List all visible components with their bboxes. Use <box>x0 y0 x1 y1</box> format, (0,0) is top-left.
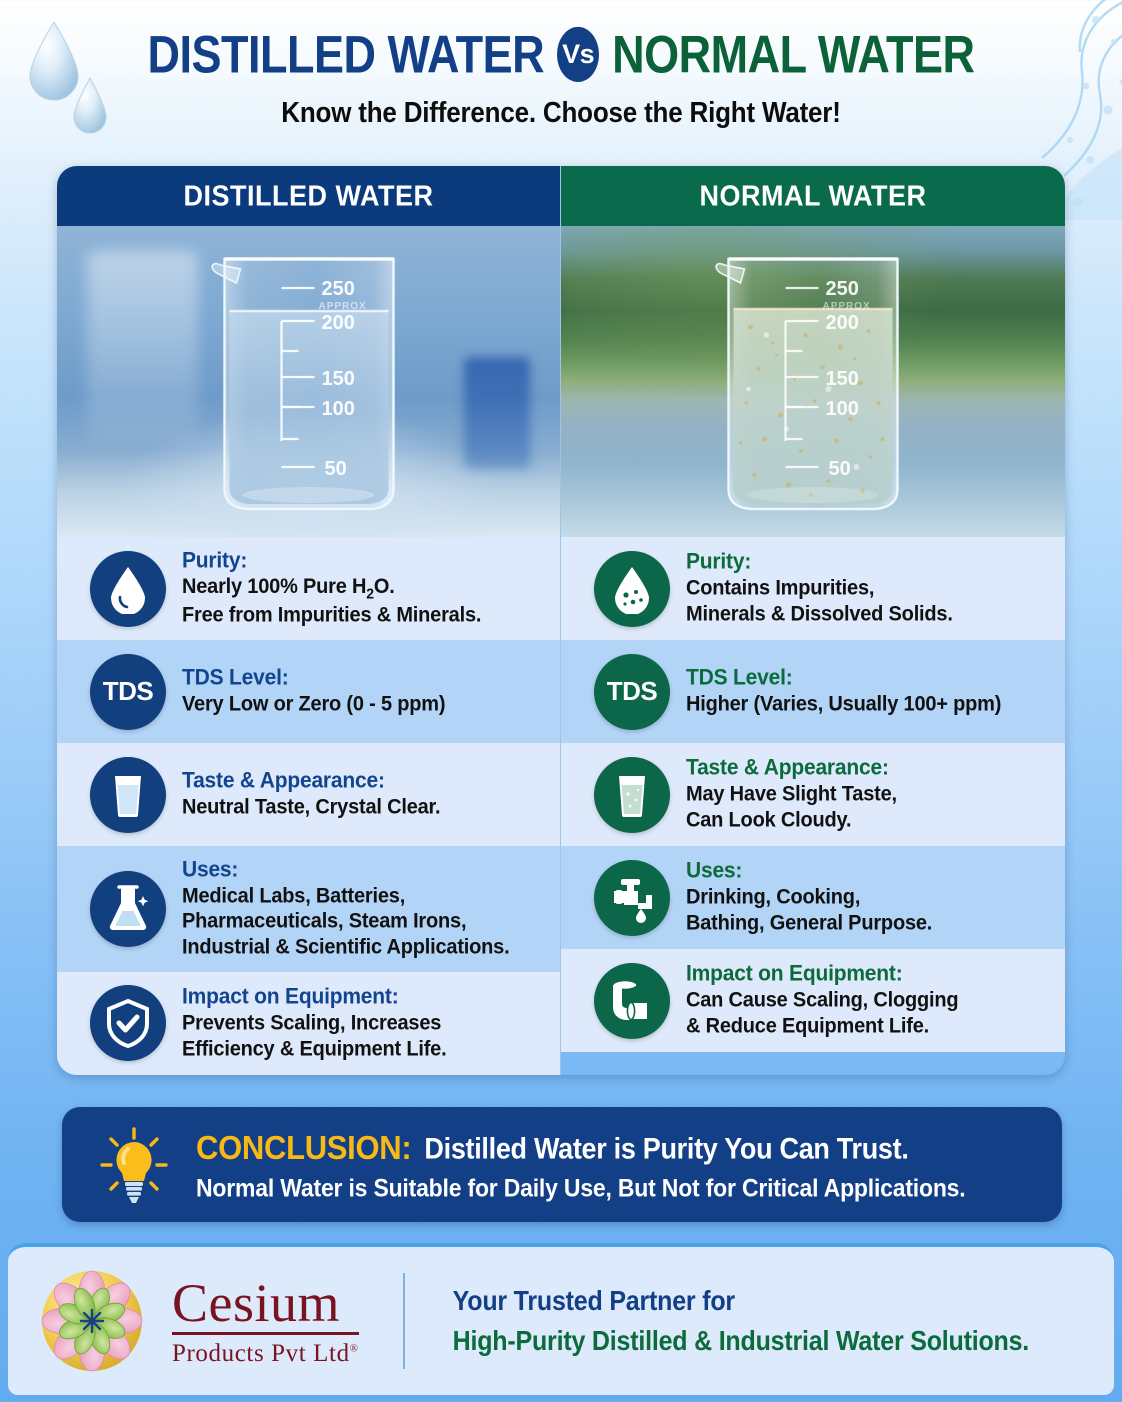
beaker-photo-normal: 250 200 150 100 50 APPROX <box>561 226 1065 537</box>
tagline-line-1: Your Trusted Partner for <box>453 1285 1029 1317</box>
row-desc: Industrial & Scientific Applications. <box>182 934 509 961</box>
row-desc: Bathing, General Purpose. <box>686 910 932 937</box>
row-uses-normal: Uses: Drinking, Cooking, Bathing, Genera… <box>561 846 1065 949</box>
row-tds-distilled: TDS TDS Level: Very Low or Zero (0 - 5 p… <box>57 640 560 743</box>
row-label: Taste & Appearance: <box>686 755 897 783</box>
dirty-water-drop-icon <box>594 551 670 627</box>
row-taste-normal: Taste & Appearance: May Have Slight Tast… <box>561 743 1065 846</box>
svg-text:200: 200 <box>321 312 354 334</box>
svg-text:50: 50 <box>324 458 346 480</box>
svg-text:200: 200 <box>826 312 859 334</box>
row-purity-normal: Purity: Contains Impurities, Minerals & … <box>561 537 1065 640</box>
svg-text:50: 50 <box>829 458 851 480</box>
faucet-icon <box>594 860 670 936</box>
column-header-normal: NORMAL WATER <box>561 166 1065 228</box>
clogged-pipe-icon <box>594 963 670 1039</box>
row-desc: May Have Slight Taste, <box>686 782 897 809</box>
row-label: TDS Level: <box>686 664 1001 692</box>
tds-icon-label: TDS <box>607 676 658 707</box>
row-label: Impact on Equipment: <box>182 983 446 1011</box>
beaker-clear-icon: 250 200 150 100 50 APPROX <box>206 243 411 515</box>
row-label: Uses: <box>182 856 509 884</box>
feature-rows-normal: Purity: Contains Impurities, Minerals & … <box>561 537 1065 1052</box>
conclusion-keyword: CONCLUSION: <box>196 1128 411 1167</box>
row-desc: Medical Labs, Batteries, <box>182 883 509 910</box>
page-title: DISTILLED WATER Vs NORMAL WATER <box>0 22 1122 87</box>
row-desc: Efficiency & Equipment Life. <box>182 1036 446 1063</box>
cloudy-glass-icon <box>594 757 670 833</box>
title-left: DISTILLED WATER <box>148 27 545 83</box>
footer-divider <box>403 1273 405 1369</box>
page-subtitle: Know the Difference. Choose the Right Wa… <box>0 95 1122 130</box>
svg-text:100: 100 <box>826 398 859 420</box>
svg-text:APPROX: APPROX <box>318 301 366 312</box>
column-normal-water: NORMAL WATER <box>561 166 1065 1075</box>
row-tds-normal: TDS TDS Level: Higher (Varies, Usually 1… <box>561 640 1065 743</box>
water-drop-icon <box>90 551 166 627</box>
beaker-photo-distilled: 250 200 150 100 50 APPROX <box>57 226 560 537</box>
row-impact-normal: Impact on Equipment: Can Cause Scaling, … <box>561 949 1065 1052</box>
svg-text:150: 150 <box>826 368 859 390</box>
row-desc: Contains Impurities, <box>686 576 953 603</box>
row-label: TDS Level: <box>182 664 445 692</box>
logo-wordmark: Cesium Products Pvt Ltd® <box>172 1276 359 1366</box>
company-subtitle: Products Pvt Ltd® <box>172 1341 359 1366</box>
comparison-card: DISTILLED WATER <box>57 166 1065 1075</box>
tds-icon: TDS <box>594 654 670 730</box>
lightbulb-icon <box>98 1125 170 1205</box>
footer-bar: Cesium Products Pvt Ltd® Your Trusted Pa… <box>8 1243 1114 1395</box>
row-desc: Neutral Taste, Crystal Clear. <box>182 794 440 821</box>
tds-icon: TDS <box>90 654 166 730</box>
water-glass-icon <box>90 757 166 833</box>
beaker-cloudy-icon: 250 200 150 100 50 APPROX <box>711 243 916 515</box>
row-desc: Pharmaceuticals, Steam Irons, <box>182 909 509 936</box>
cesium-flower-logo <box>38 1267 146 1375</box>
tds-icon-label: TDS <box>103 676 154 707</box>
row-desc: Nearly 100% Pure H2O. <box>182 574 481 604</box>
page-header: DISTILLED WATER Vs NORMAL WATER Know the… <box>0 0 1122 128</box>
row-desc: Free from Impurities & Minerals. <box>182 602 481 629</box>
flask-icon <box>90 871 166 947</box>
row-label: Uses: <box>686 858 932 886</box>
row-label: Impact on Equipment: <box>686 961 958 989</box>
row-purity-distilled: Purity: Nearly 100% Pure H2O. Free from … <box>57 537 560 640</box>
row-label: Purity: <box>686 549 953 577</box>
shield-check-icon <box>90 985 166 1061</box>
row-desc: Minerals & Dissolved Solids. <box>686 601 953 628</box>
row-impact-distilled: Impact on Equipment: Prevents Scaling, I… <box>57 972 560 1075</box>
row-uses-distilled: Uses: Medical Labs, Batteries, Pharmaceu… <box>57 846 560 972</box>
row-desc: Can Look Cloudy. <box>686 807 897 834</box>
title-right: NORMAL WATER <box>612 27 974 83</box>
row-desc: Can Cause Scaling, Clogging <box>686 988 958 1015</box>
row-desc: Very Low or Zero (0 - 5 ppm) <box>182 691 445 718</box>
row-label: Purity: <box>182 548 481 576</box>
svg-text:100: 100 <box>321 398 354 420</box>
svg-text:250: 250 <box>321 278 354 300</box>
svg-text:APPROX: APPROX <box>823 301 871 312</box>
column-distilled-water: DISTILLED WATER <box>57 166 561 1075</box>
footer-tagline: Your Trusted Partner for High-Purity Dis… <box>453 1287 1029 1356</box>
row-desc: & Reduce Equipment Life. <box>686 1013 958 1040</box>
row-label: Taste & Appearance: <box>182 767 440 795</box>
row-desc: Prevents Scaling, Increases <box>182 1010 446 1037</box>
svg-text:150: 150 <box>321 368 354 390</box>
column-header-distilled: DISTILLED WATER <box>57 166 560 228</box>
conclusion-banner: CONCLUSION: Distilled Water is Purity Yo… <box>62 1107 1062 1222</box>
vs-badge: Vs <box>557 27 599 82</box>
feature-rows-distilled: Purity: Nearly 100% Pure H2O. Free from … <box>57 537 560 1075</box>
svg-text:250: 250 <box>826 278 859 300</box>
conclusion-subline: Normal Water is Suitable for Daily Use, … <box>196 1173 965 1202</box>
row-taste-distilled: Taste & Appearance: Neutral Taste, Cryst… <box>57 743 560 846</box>
tagline-line-2: High-Purity Distilled & Industrial Water… <box>453 1325 1029 1357</box>
company-name: Cesium <box>172 1276 359 1335</box>
row-desc: Higher (Varies, Usually 100+ ppm) <box>686 691 1001 718</box>
row-desc: Drinking, Cooking, <box>686 885 932 912</box>
conclusion-headline: Distilled Water is Purity You Can Trust. <box>424 1132 908 1165</box>
